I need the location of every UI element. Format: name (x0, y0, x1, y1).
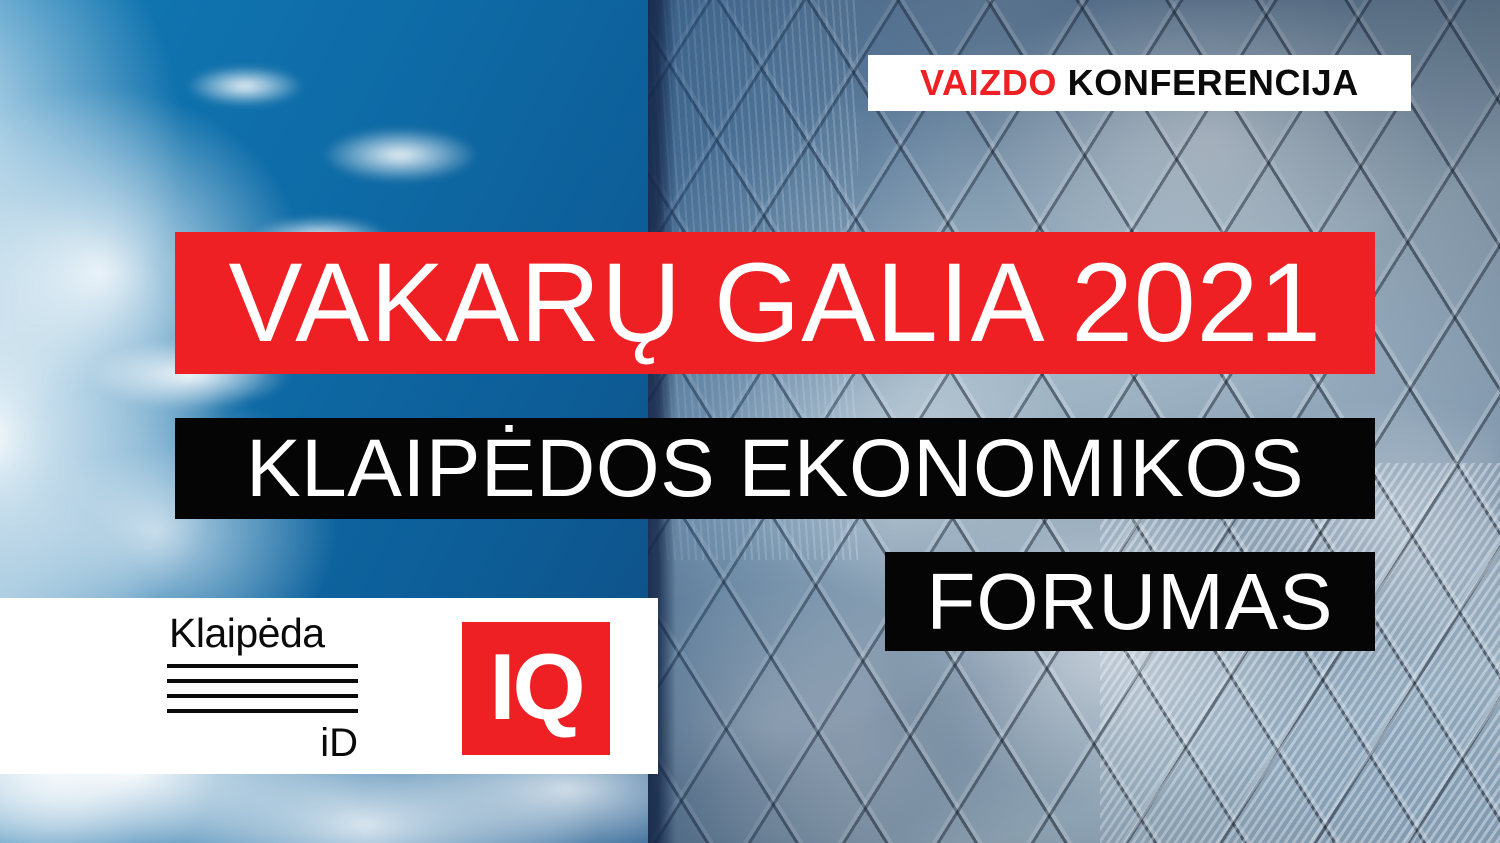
subtitle-line-2-text: FORUMAS (927, 562, 1334, 642)
klaipeda-rule-4 (167, 709, 358, 713)
conference-poster: VAIZDO KONFERENCIJA VAKARŲ GALIA 2021 KL… (0, 0, 1500, 843)
subtitle-black-bar-1: KLAIPĖDOS EKONOMIKOS (175, 418, 1375, 519)
cloud-wisp-1 (300, 120, 500, 190)
klaipeda-id-wordmark: iD (167, 723, 360, 763)
subtitle-black-bar-2: FORUMAS (885, 552, 1375, 651)
klaipeda-id-logo: Klaipėda iD (167, 612, 360, 763)
klaipeda-wordmark: Klaipėda (167, 612, 360, 655)
banner-word-black: KONFERENCIJA (1068, 62, 1359, 103)
iq-logo: IQ (462, 622, 610, 755)
cloud-wisp-2 (170, 60, 320, 112)
vaizdo-konferencija-banner: VAIZDO KONFERENCIJA (868, 55, 1411, 111)
klaipeda-rule-2 (167, 679, 358, 683)
klaipeda-rule-1 (167, 664, 358, 668)
iq-wordmark: IQ (489, 640, 582, 734)
klaipeda-rule-3 (167, 694, 358, 698)
banner-text: VAIZDO KONFERENCIJA (920, 65, 1359, 101)
banner-word-red: VAIZDO (920, 62, 1057, 103)
klaipeda-rules (167, 664, 358, 713)
title-text: VAKARŲ GALIA 2021 (228, 247, 1321, 359)
title-red-bar: VAKARŲ GALIA 2021 (175, 232, 1375, 374)
subtitle-line-1-text: KLAIPĖDOS EKONOMIKOS (246, 428, 1304, 510)
